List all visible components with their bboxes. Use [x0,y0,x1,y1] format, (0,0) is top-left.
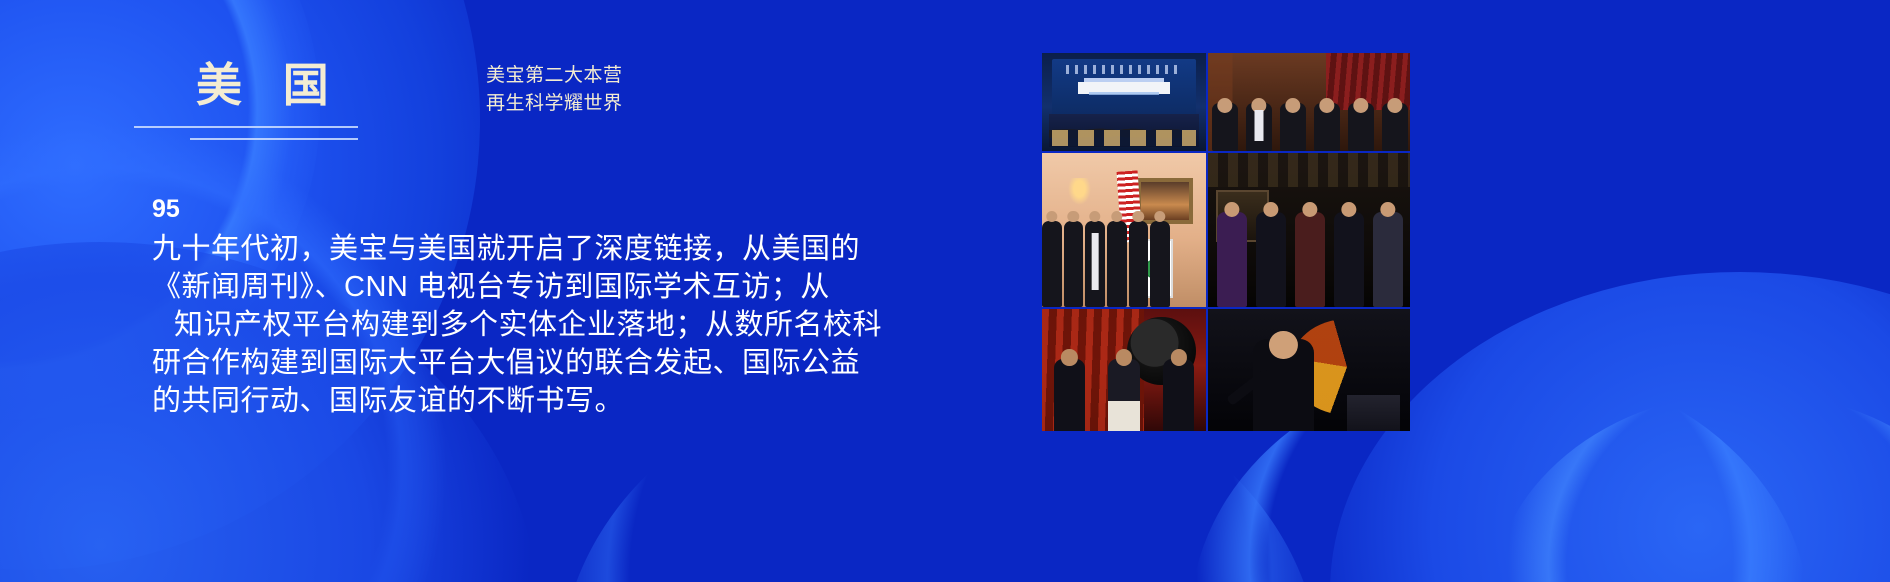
person-figure [1212,103,1239,151]
ceiling-beams [1208,153,1410,187]
person-figure [1064,221,1084,307]
person-figure [1295,212,1326,307]
person-figure [1085,221,1105,307]
page-number: 95 [152,196,922,224]
photo-clinton-global-initiative-panel [1042,53,1206,151]
person-figure [1163,359,1194,432]
background-wave-bottom-right-3 [1490,392,1890,582]
photo-flag-award-group [1042,153,1206,307]
person-figure [1054,359,1085,432]
person-figure [1129,221,1149,307]
paragraph-line-1: 九十年代初，美宝与美国就开启了深度链接，从美国的 [152,230,922,268]
title-underline-upper [134,126,358,128]
person-figure [1253,339,1314,431]
certificate-figures [1208,94,1410,151]
person-figure [1280,103,1307,151]
title-underline-lower [190,138,358,140]
person-figure [1042,221,1062,307]
group-figures [1042,212,1206,307]
paragraph-line-5: 的共同行动、国际友谊的不断书写。 [152,382,922,420]
photo-academic-regalia [1208,153,1410,307]
subtitle-line-1: 美宝第二大本营 [486,62,623,90]
gala-figures [1042,352,1206,431]
photo-gala-red-carpet [1042,309,1206,431]
wall-sconce [1068,178,1091,206]
cgi-banner-line-1 [1084,78,1165,82]
person-figure [1246,103,1273,151]
background-wave-bottom-right-1 [1330,272,1890,582]
photo-collage: KEVIN PENG XU [1042,53,1410,431]
photo-certificate-group [1208,53,1410,151]
cgi-chair-row [1052,130,1196,146]
slide-header: 美 国 美宝第二大本营 再生科学耀世界 [0,0,1000,160]
person-figure [1256,212,1287,307]
person-figure [1107,221,1127,307]
subtitle-line-2: 再生科学耀世界 [486,90,623,118]
person-figure [1108,359,1139,432]
title-block: 美 国 [196,62,343,108]
body-copy-block: 95 九十年代初，美宝与美国就开启了深度链接，从美国的 《新闻周刊》、CNN 电… [152,196,922,420]
subtitle-block: 美宝第二大本营 再生科学耀世界 [486,62,623,117]
cgi-star-border [1066,65,1181,74]
person-figure [1150,221,1170,307]
paragraph-line-3: 知识产权平台构建到多个实体企业落地；从数所名校科 [152,306,922,344]
person-figure [1314,103,1341,151]
paragraph-line-4: 研合作构建到国际大平台大倡议的联合发起、国际公益 [152,344,922,382]
person-figure [1382,103,1409,151]
paragraph-line-2: 《新闻周刊》、CNN 电视台专访到国际学术互访；从 [152,268,922,306]
person-figure [1217,212,1248,307]
regalia-figures [1208,196,1410,307]
person-figure [1334,212,1365,307]
person-figure [1373,212,1404,307]
page-title: 美 国 [196,62,343,108]
cgi-banner-backdrop [1052,59,1196,118]
photo-graduation-stage [1208,309,1410,431]
cgi-banner-line-3 [1089,92,1158,95]
person-figure [1348,103,1375,151]
stage-podium [1347,395,1400,431]
